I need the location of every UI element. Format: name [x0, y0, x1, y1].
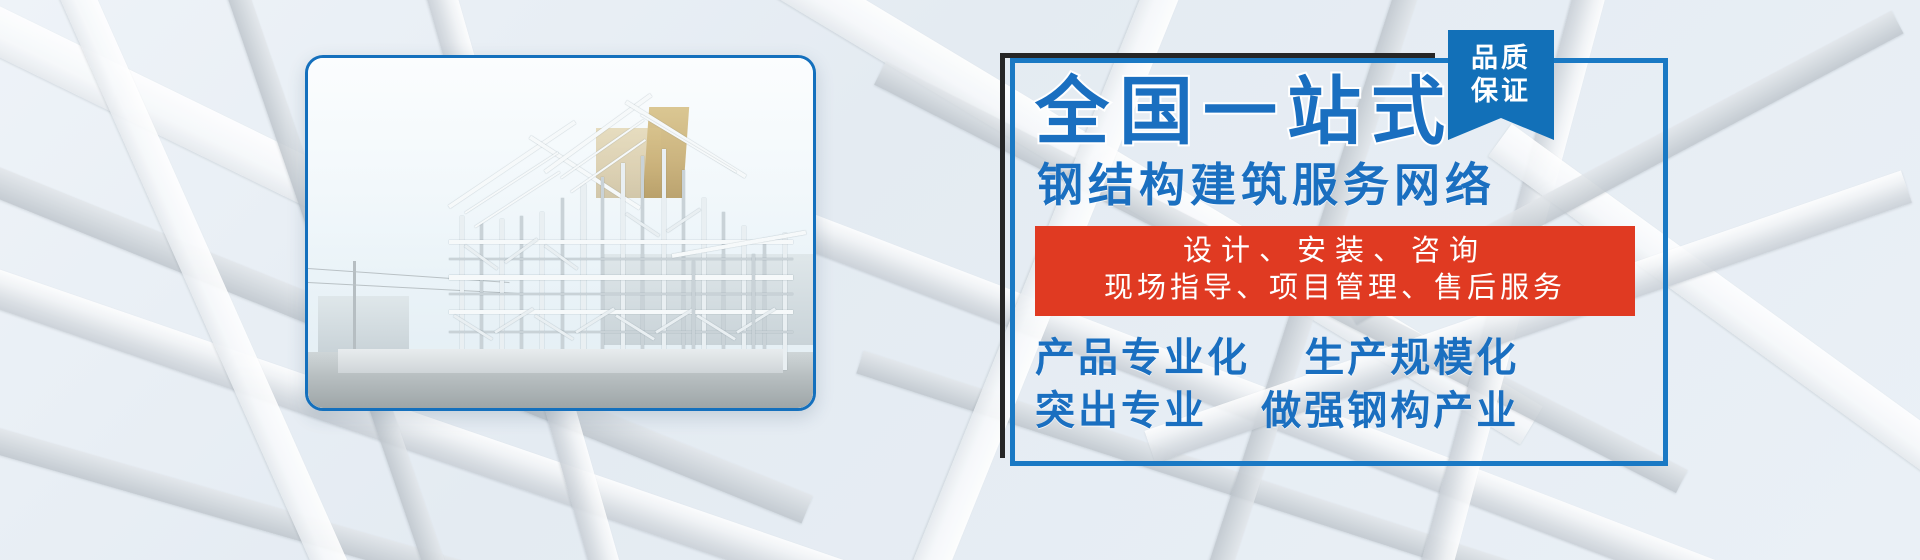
text-frame-blue-top-rule: [1140, 58, 1658, 63]
promo-banner: 全国一站式 钢结构建筑服务网络 设计、安装、咨询 现场指导、项目管理、售后服务 …: [0, 0, 1920, 560]
hero-photo-card: [305, 55, 816, 411]
slogan-2-part-a: 突出专业: [1035, 389, 1207, 433]
photo-stud: [722, 212, 725, 370]
slogan-1-part-b: 生产规模化: [1304, 336, 1519, 380]
quality-badge-line-2: 保证: [1448, 75, 1554, 108]
photo-concrete-slab: [338, 349, 782, 374]
slogan-group: 产品专业化 生产规模化 突出专业 做强钢构产业: [1035, 332, 1655, 438]
photo-stud: [783, 233, 787, 370]
photo-stud: [702, 198, 706, 370]
photo-joist: [449, 310, 792, 314]
photo-stud: [561, 198, 564, 370]
slogan-2-part-b: 做强钢构产业: [1261, 389, 1519, 433]
photo-stud: [540, 212, 544, 370]
photo-joist: [449, 293, 792, 295]
photo-background-building-2: [318, 296, 409, 352]
quality-badge-text: 品质 保证: [1448, 42, 1554, 108]
photo-stud: [682, 170, 685, 370]
photo-joist: [449, 275, 792, 280]
marketing-copy: 全国一站式 钢结构建筑服务网络 设计、安装、咨询 现场指导、项目管理、售后服务 …: [1035, 75, 1655, 438]
photo-joist: [449, 258, 792, 260]
services-line-1: 设计、安装、咨询: [1049, 233, 1621, 270]
photo-canopy-support: [752, 254, 755, 352]
slogan-line-1: 产品专业化 生产规模化: [1035, 332, 1655, 385]
photo-canopy-support: [692, 261, 695, 352]
photo-stud: [480, 223, 483, 370]
quality-badge-line-1: 品质: [1448, 42, 1554, 75]
services-line-2: 现场指导、项目管理、售后服务: [1049, 270, 1621, 307]
photo-utility-pole: [353, 261, 356, 352]
subheadline: 钢结构建筑服务网络: [1037, 159, 1655, 212]
slogan-1-part-a: 产品专业化: [1035, 336, 1250, 380]
photo-stud: [621, 163, 625, 370]
headline: 全国一站式: [1035, 75, 1655, 149]
services-callout: 设计、安装、咨询 现场指导、项目管理、售后服务: [1035, 226, 1635, 316]
hero-photo: [308, 58, 813, 408]
slogan-line-2: 突出专业 做强钢构产业: [1035, 385, 1655, 438]
photo-stud: [641, 156, 644, 370]
photo-stud: [601, 177, 604, 370]
